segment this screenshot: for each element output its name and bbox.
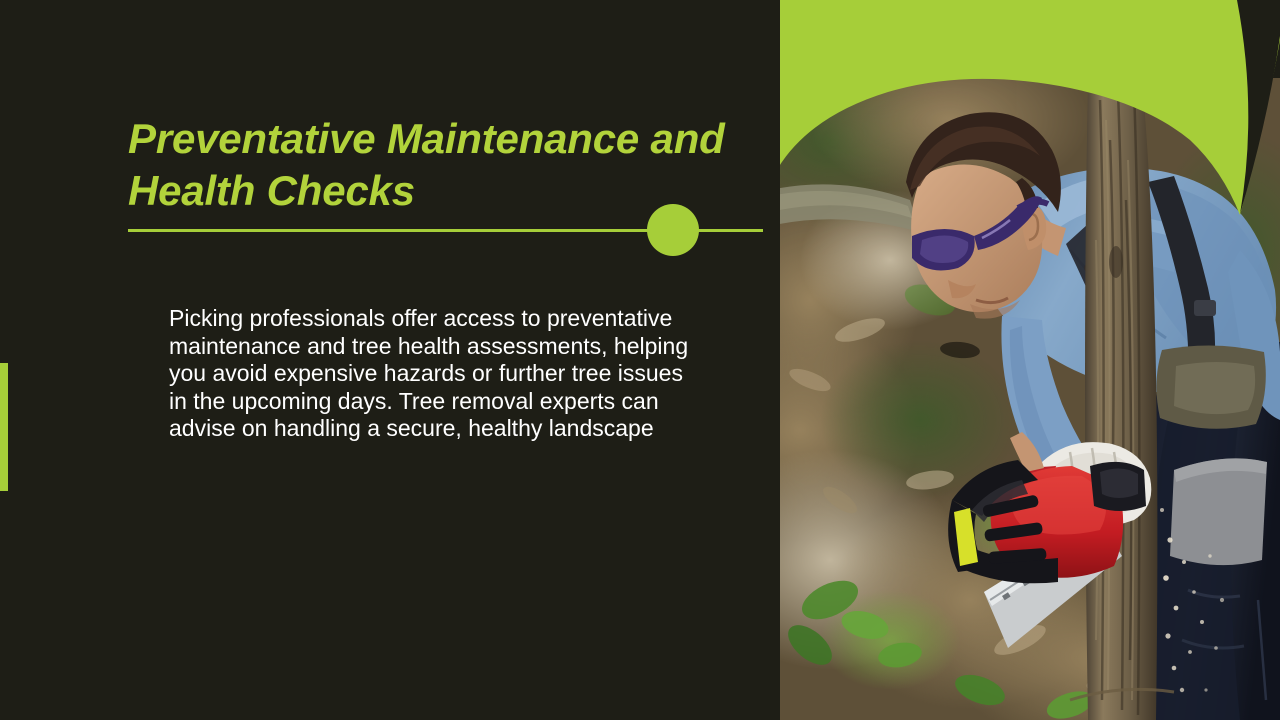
photo-panel <box>770 0 1280 720</box>
slide-root: Preventative Maintenance and Health Chec… <box>0 0 1280 720</box>
page-title: Preventative Maintenance and Health Chec… <box>128 113 728 217</box>
divider-dot <box>647 204 699 256</box>
body-paragraph: Picking professionals offer access to pr… <box>169 305 694 443</box>
forest-worker-photo <box>770 0 1280 720</box>
left-accent-bar <box>0 363 8 491</box>
